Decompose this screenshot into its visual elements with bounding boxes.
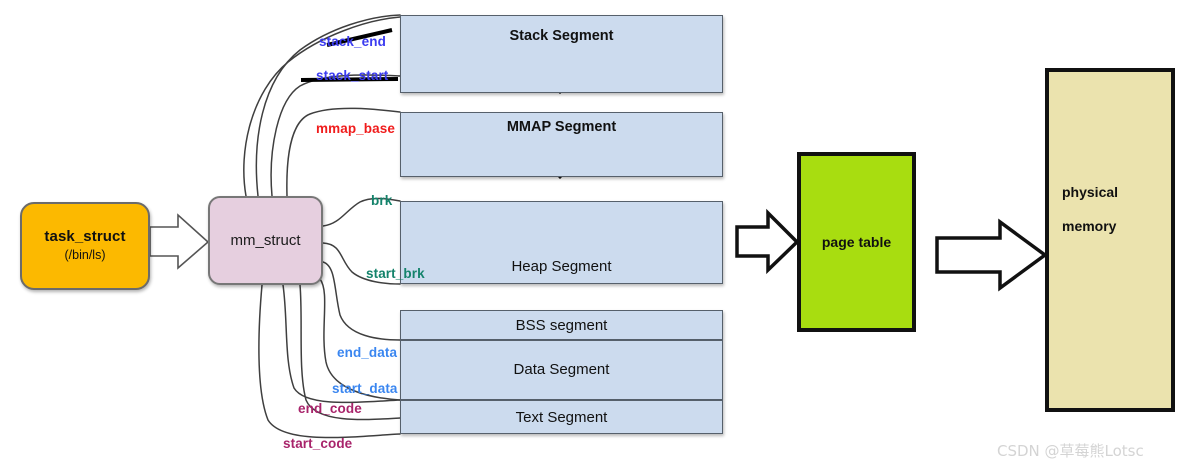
physical-memory-box[interactable]: physical memory <box>1045 68 1175 412</box>
segment-stack[interactable]: Stack Segment <box>400 15 723 93</box>
segment-mmap[interactable]: MMAP Segment <box>400 112 723 177</box>
pointer-label-mmap-base: mmap_base <box>316 121 395 136</box>
arrow-segments-to-page-table <box>737 213 797 270</box>
diagram-canvas: task_struct (/bin/ls) mm_struct Stack Se… <box>0 0 1200 466</box>
physical-memory-label-line2: memory <box>1062 218 1116 234</box>
pointer-label-end-data: end_data <box>337 345 397 360</box>
segment-stack-label: Stack Segment <box>401 28 722 44</box>
pointer-label-stack-end: stack_end <box>319 34 386 49</box>
pointer-label-start-code: start_code <box>283 436 352 451</box>
arrow-task-to-mm <box>150 215 208 268</box>
page-table-box[interactable]: page table <box>797 152 916 332</box>
segment-heap[interactable]: Heap Segment <box>400 201 723 284</box>
page-table-label: page table <box>822 234 891 250</box>
pointer-label-end-code: end_code <box>298 401 362 416</box>
mm-struct-box[interactable]: mm_struct <box>208 196 323 285</box>
pointer-label-start-brk: start_brk <box>366 266 425 281</box>
segment-text-label: Text Segment <box>401 409 722 426</box>
segment-text[interactable]: Text Segment <box>400 400 723 434</box>
watermark-text: CSDN @草莓熊Lotsc <box>997 440 1144 461</box>
task-struct-subtitle: (/bin/ls) <box>65 248 106 264</box>
segment-heap-label: Heap Segment <box>401 258 722 275</box>
segment-mmap-label: MMAP Segment <box>401 119 722 135</box>
segment-data-label: Data Segment <box>401 361 722 378</box>
mm-struct-label: mm_struct <box>230 232 300 249</box>
segment-bss[interactable]: BSS segment <box>400 310 723 340</box>
pointer-label-stack-start: stack_start <box>316 68 388 83</box>
task-struct-title: task_struct <box>44 228 125 247</box>
segment-data[interactable]: Data Segment <box>400 340 723 400</box>
pointer-label-brk: brk <box>371 193 392 208</box>
arrow-page-table-to-physical-memory <box>937 222 1045 288</box>
physical-memory-label-line1: physical <box>1062 184 1118 200</box>
task-struct-box[interactable]: task_struct (/bin/ls) <box>20 202 150 290</box>
segment-bss-label: BSS segment <box>401 317 722 334</box>
pointer-label-start-data: start_data <box>332 381 398 396</box>
